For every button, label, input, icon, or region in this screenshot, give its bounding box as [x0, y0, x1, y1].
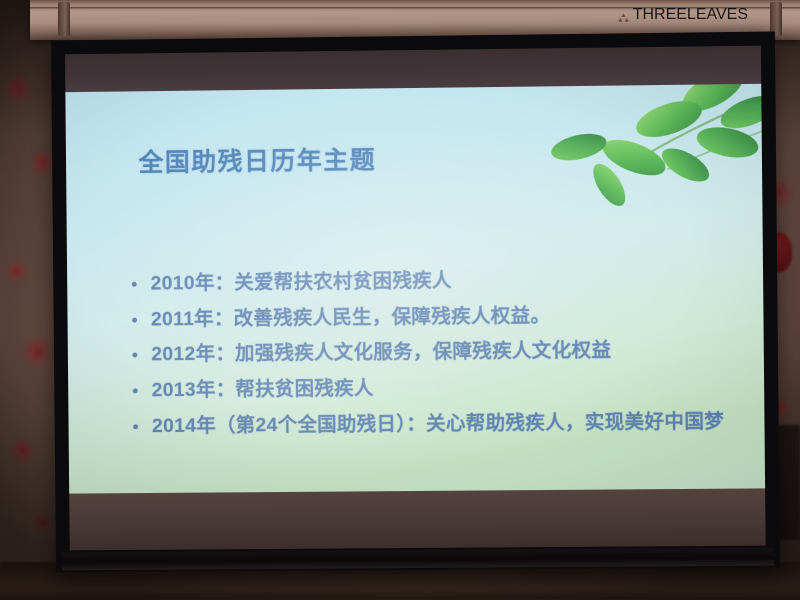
- projection-screen-frame: 全国助残日历年主题 2010年：关爱帮扶农村贫困残疾人 2011年：改善残疾人民…: [51, 31, 780, 572]
- letterbox-band-bottom: [69, 488, 765, 550]
- bullet-dot-icon: [133, 424, 138, 429]
- bullet-dot-icon: [132, 282, 137, 287]
- projection-screen-surface: 全国助残日历年主题 2010年：关爱帮扶农村贫困残疾人 2011年：改善残疾人民…: [65, 46, 766, 551]
- screen-brand-text: THREELEAVES: [633, 6, 748, 24]
- list-item: 2011年：改善残疾人民生，保障残疾人权益。: [127, 301, 723, 334]
- bullet-dot-icon: [132, 353, 137, 358]
- list-item-text: 2012年：加强残疾人文化服务，保障残疾人文化权益: [151, 340, 611, 366]
- bullet-dot-icon: [132, 317, 137, 322]
- screen-bottom-weight-bar: [62, 548, 774, 571]
- list-item-text: 2010年：关爱帮扶农村贫困残疾人: [151, 270, 452, 295]
- list-item-text: 2013年：帮扶贫困残疾人: [152, 377, 374, 401]
- list-item: 2012年：加强残疾人文化服务，保障残疾人文化权益: [127, 337, 723, 370]
- screen-brand-label: THREELEAVES: [618, 6, 748, 24]
- three-leaves-logo-icon: [618, 10, 629, 21]
- green-leaves-branch-icon: [516, 84, 765, 221]
- list-item-text: 2014年（第24个全国助残日）：关心帮助残疾人，实现美好中国梦: [152, 410, 724, 437]
- list-item: 2010年：关爱帮扶农村贫困残疾人: [127, 265, 723, 299]
- list-item: 2013年：帮扶贫困残疾人: [128, 372, 724, 405]
- list-item: 2014年（第24个全国助残日）：关心帮助残疾人，实现美好中国梦: [128, 408, 724, 441]
- presentation-slide: 全国助残日历年主题 2010年：关爱帮扶农村贫困残疾人 2011年：改善残疾人民…: [65, 84, 765, 494]
- slide-title: 全国助残日历年主题: [138, 140, 376, 179]
- housing-bracket-left: [58, 2, 70, 36]
- bullet-dot-icon: [133, 388, 138, 393]
- room-scene: THREELEAVES: [0, 0, 800, 600]
- slide-bullet-list: 2010年：关爱帮扶农村贫困残疾人 2011年：改善残疾人民生，保障残疾人权益。…: [127, 265, 725, 449]
- list-item-text: 2011年：改善残疾人民生，保障残疾人权益。: [151, 304, 550, 330]
